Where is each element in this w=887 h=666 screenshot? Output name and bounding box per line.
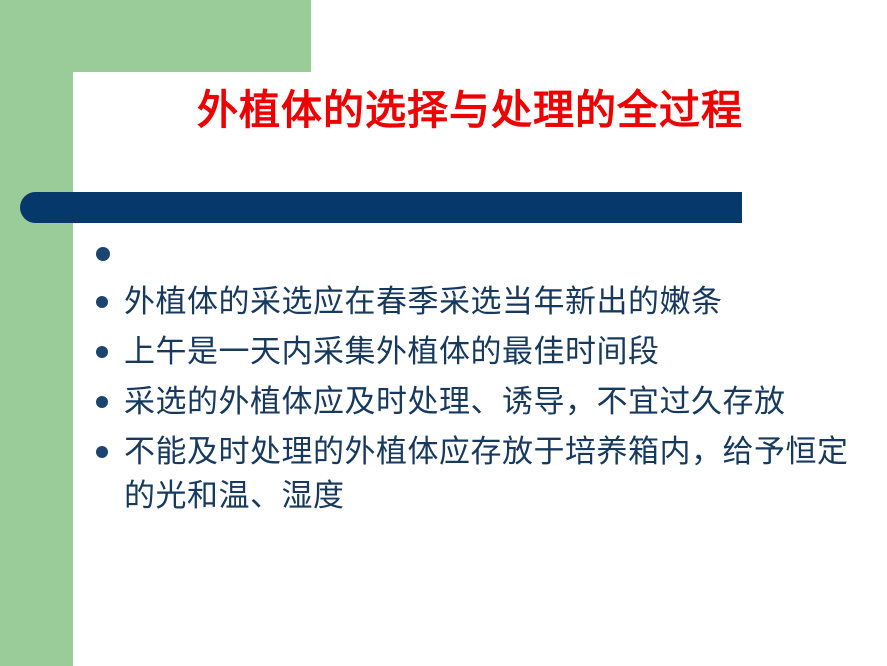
list-item: 采选的外植体应及时处理、诱导，不宜过久存放 — [90, 380, 850, 424]
slide-bullet-list: 外植体的采选应在春季采选当年新出的嫩条 上午是一天内采集外植体的最佳时间段 采选… — [90, 240, 850, 524]
bullet-dot-icon — [96, 247, 110, 261]
green-top-block-decoration — [0, 0, 311, 72]
green-side-strip-decoration — [0, 0, 73, 666]
bullet-text: 上午是一天内采集外植体的最佳时间段 — [124, 330, 850, 374]
bullet-text: 采选的外植体应及时处理、诱导，不宜过久存放 — [124, 380, 850, 424]
bullet-dot-icon — [96, 346, 108, 358]
bullet-dot-icon — [96, 296, 108, 308]
bullet-dot-icon — [96, 396, 108, 408]
bullet-text: 外植体的采选应在春季采选当年新出的嫩条 — [124, 280, 850, 324]
list-item: 上午是一天内采集外植体的最佳时间段 — [90, 330, 850, 374]
bullet-text: 不能及时处理的外植体应存放于培养箱内，给予恒定的光和温、湿度 — [124, 430, 850, 518]
navy-title-underline-bar — [20, 192, 742, 223]
bullet-dot-icon — [96, 446, 108, 458]
presentation-slide: 外植体的选择与处理的全过程 外植体的采选应在春季采选当年新出的嫩条 上午是一天内… — [0, 0, 887, 666]
slide-title: 外植体的选择与处理的全过程 — [120, 84, 820, 136]
list-item — [90, 240, 850, 268]
list-item: 不能及时处理的外植体应存放于培养箱内，给予恒定的光和温、湿度 — [90, 430, 850, 518]
list-item: 外植体的采选应在春季采选当年新出的嫩条 — [90, 280, 850, 324]
